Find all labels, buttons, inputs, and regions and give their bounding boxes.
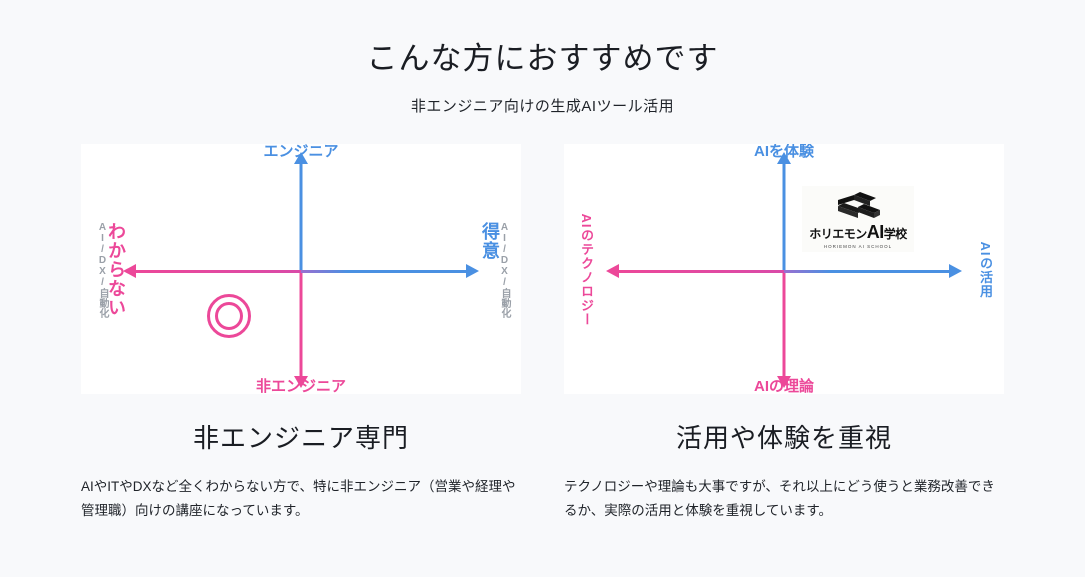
arrowhead-right-icon [466,264,479,278]
quadrant-left-label: AIのテクノロジー [580,214,593,327]
arrowhead-up-icon [777,152,791,164]
axis-horizontal-left [618,270,784,273]
arrowhead-right-icon [949,264,962,278]
feature-card-non-engineer: エンジニア AI/DX/自動化 わからない 得意 AI/DX/自動化 非エンジニ… [81,144,521,522]
logo-wordmark-prefix: ホリエモン [809,227,867,241]
logo-wordmark: ホリエモンAI学校 [804,223,912,243]
quadrant-right-sublabel: AI/DX/自動化 [499,222,509,318]
horiemon-ai-school-logo: ホリエモンAI学校 HORIEMON AI SCHOOL [802,186,914,252]
target-circle-marker-icon [207,294,251,338]
page-subtitle: 非エンジニア向けの生成AIツール活用 [0,95,1085,116]
axis-horizontal-right [784,270,950,273]
axis-vertical-down [300,270,303,378]
card-body-text: AIやITやDXなど全くわからない方で、特に非エンジニア（営業や経理や管理職）向… [81,475,521,522]
card-heading: 活用や体験を重視 [564,418,1004,455]
axis-vertical-down [783,270,786,378]
quadrant-diagram-left: エンジニア AI/DX/自動化 わからない 得意 AI/DX/自動化 非エンジニ… [81,144,521,394]
page-title: こんな方におすすめです [0,40,1085,77]
quadrant-left-label-group: AI/DX/自動化 わからない [97,222,125,318]
logo-tagline: HORIEMON AI SCHOOL [804,244,912,249]
quadrant-left-label: わからない [107,222,125,317]
quadrant-bottom-label: AIの理論 [754,375,814,394]
feature-cards-row: エンジニア AI/DX/自動化 わからない 得意 AI/DX/自動化 非エンジニ… [0,144,1085,522]
arrowhead-left-icon [606,264,619,278]
card-heading: 非エンジニア専門 [81,418,521,455]
quadrant-right-label-group: AIの活用 [979,242,992,299]
logo-wordmark-ai: AI [867,222,884,242]
quadrant-right-label: AIの活用 [979,242,992,299]
logo-isometric-h-mark-icon [830,190,886,222]
page-header: こんな方におすすめです 非エンジニア向けの生成AIツール活用 [0,0,1085,116]
axis-horizontal-right [301,270,467,273]
feature-card-practical-focus: AIを体験 AIのテクノロジー AIの活用 [564,144,1004,522]
arrowhead-up-icon [294,152,308,164]
axis-vertical-up [783,162,786,270]
card-body-text: テクノロジーや理論も大事ですが、それ以上にどう使うと業務改善できるか、実際の活用… [564,475,1004,522]
quadrant-diagram-right: AIを体験 AIのテクノロジー AIの活用 [564,144,1004,394]
quadrant-bottom-label: 非エンジニア [256,375,346,394]
quadrant-right-label: 得意 [481,222,499,260]
quadrant-right-label-group: 得意 AI/DX/自動化 [481,222,509,318]
axis-horizontal-left [135,270,301,273]
quadrant-left-label-group: AIのテクノロジー [580,214,593,327]
logo-wordmark-suffix: 学校 [884,227,907,241]
axis-vertical-up [300,162,303,270]
